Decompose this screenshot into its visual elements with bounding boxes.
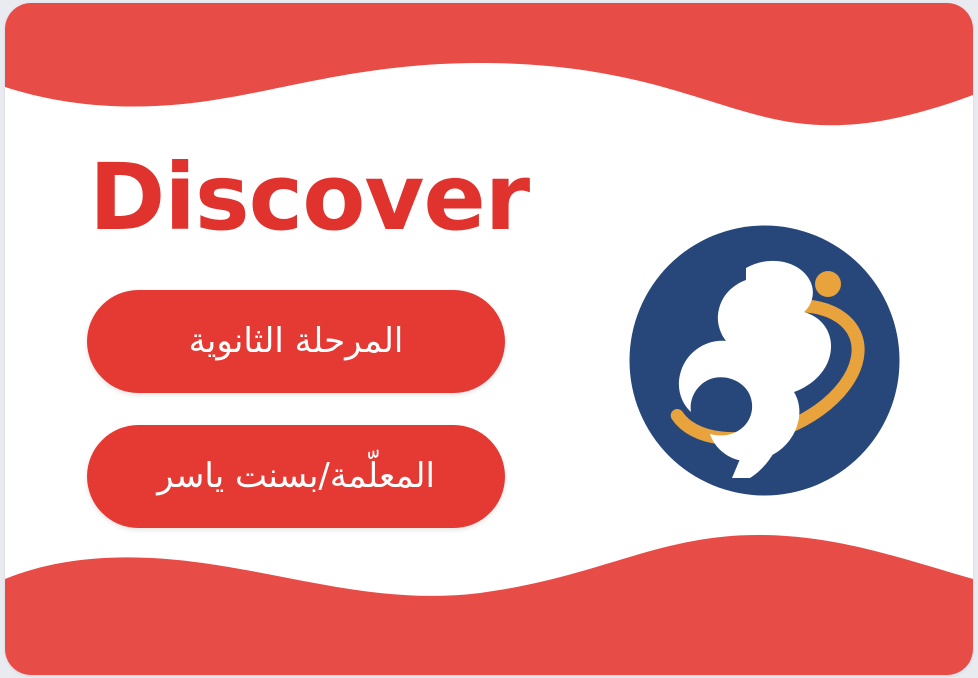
stage-button-label: المرحلة الثانوية xyxy=(171,320,422,363)
stage-button[interactable]: المرحلة الثانوية xyxy=(87,290,505,393)
page-title: Discover xyxy=(89,151,529,245)
teacher-button[interactable]: المعلّمة/بسنت ياسر xyxy=(87,425,505,528)
card-content: Discover المرحلة الثانوية المعلّمة/بسنت … xyxy=(5,3,973,675)
school-logo-icon xyxy=(628,224,901,497)
teacher-button-label: المعلّمة/بسنت ياسر xyxy=(139,455,453,498)
discover-card: Discover المرحلة الثانوية المعلّمة/بسنت … xyxy=(5,3,973,675)
logo-dot-icon xyxy=(815,271,841,297)
page-root: Discover المرحلة الثانوية المعلّمة/بسنت … xyxy=(0,0,978,678)
